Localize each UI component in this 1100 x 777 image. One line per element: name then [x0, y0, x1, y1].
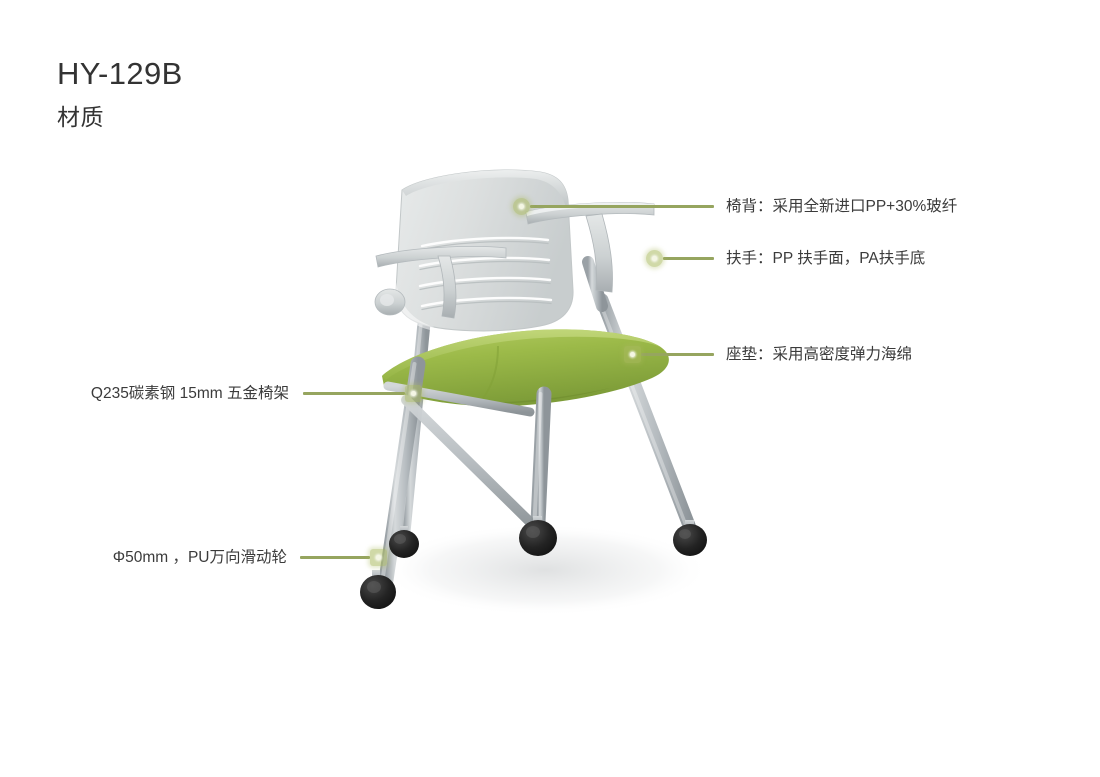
- caster-rear-right: [673, 520, 707, 556]
- leader-line-caster-wheel: [300, 556, 370, 559]
- callout-label-seat-cushion: 座垫：采用高密度弹力海绵: [726, 345, 912, 365]
- callout-marker-backrest: [513, 198, 530, 215]
- front-leg-right: [535, 394, 545, 522]
- callout-marker-steel-frame: [405, 385, 422, 402]
- callout-label-steel-frame: Q235碳素钢 15mm 五金椅架: [91, 384, 289, 404]
- page-title: HY-129B: [57, 55, 183, 94]
- training-chair-figure: [330, 150, 770, 630]
- back-pivot-left: [375, 289, 405, 315]
- callout-marker-seat-cushion: [624, 346, 641, 363]
- page-header: HY-129B 材质: [57, 55, 183, 132]
- leader-line-armrest: [663, 257, 714, 260]
- product-spec-page: HY-129B 材质: [0, 0, 1100, 777]
- callout-label-armrest: 扶手：PP 扶手面，PA扶手底: [726, 249, 925, 269]
- leader-line-seat-cushion: [641, 353, 714, 356]
- callout-marker-caster-wheel: [370, 549, 387, 566]
- callout-marker-armrest: [646, 250, 663, 267]
- leg-brace: [406, 400, 530, 522]
- leader-line-steel-frame: [303, 392, 405, 395]
- callout-label-caster-wheel: Φ50mm ，PU万向滑动轮: [113, 548, 287, 568]
- leader-line-backrest: [530, 205, 714, 208]
- callout-label-backrest: 椅背：采用全新进口PP+30%玻纤: [726, 197, 957, 217]
- section-label: 材质: [57, 103, 183, 132]
